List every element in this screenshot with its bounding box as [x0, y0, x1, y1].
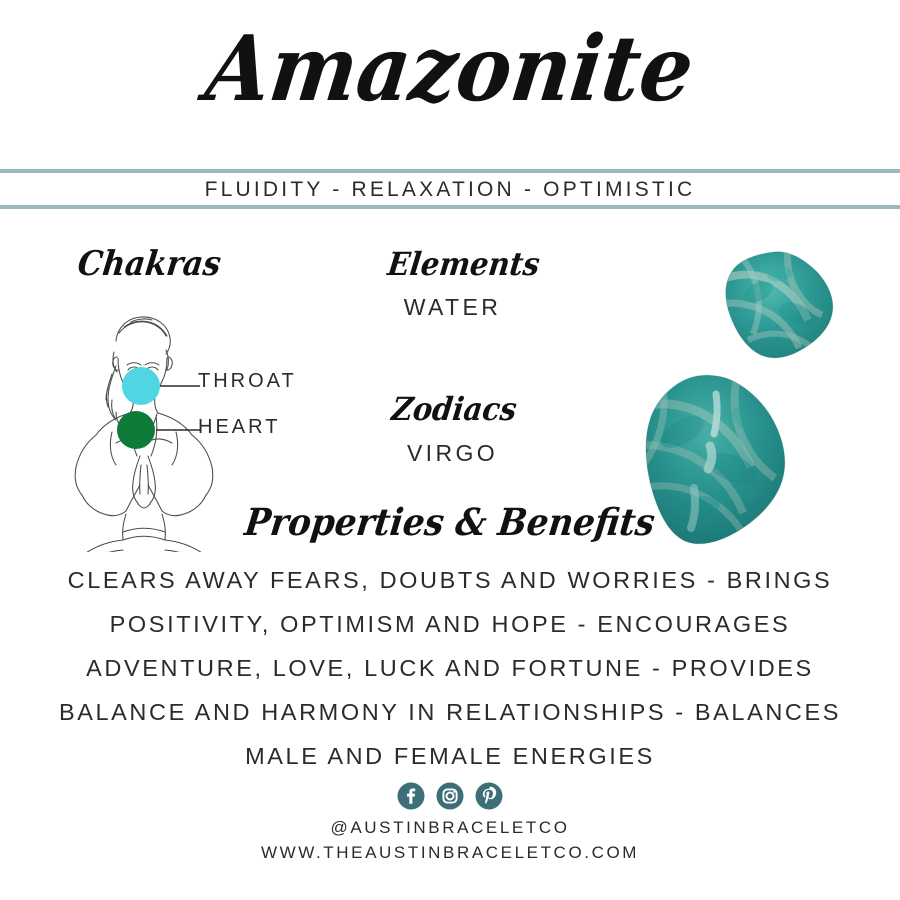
website-url[interactable]: WWW.THEAUSTINBRACELETCO.COM — [0, 840, 900, 865]
chakra-label-list: THROAT HEART — [198, 370, 338, 460]
title-container: Amazonite — [0, 28, 900, 110]
properties-line: ADVENTURE, LOVE, LUCK AND FORTUNE - PROV… — [20, 646, 880, 690]
amazonite-stone-small — [718, 248, 836, 360]
properties-heading-container: Properties & Benefits — [0, 503, 900, 543]
chakras-heading: Chakras — [76, 244, 224, 284]
divider-top — [0, 169, 900, 173]
properties-body: CLEARS AWAY FEARS, DOUBTS AND WORRIES - … — [20, 558, 880, 778]
properties-line: MALE AND FEMALE ENERGIES — [20, 734, 880, 778]
chakra-label-throat: THROAT — [198, 370, 338, 414]
throat-chakra-dot — [122, 367, 160, 405]
properties-line: POSITIVITY, OPTIMISM AND HOPE - ENCOURAG… — [20, 602, 880, 646]
instagram-icon[interactable] — [436, 782, 464, 810]
chakra-label-heart: HEART — [198, 416, 338, 460]
footer: @AUSTINBRACELETCO WWW.THEAUSTINBRACELETC… — [0, 815, 900, 865]
crystal-info-card: Amazonite FLUIDITY - RELAXATION - OPTIMI… — [0, 0, 900, 900]
zodiacs-heading: Zodiacs — [390, 390, 519, 427]
properties-line: CLEARS AWAY FEARS, DOUBTS AND WORRIES - … — [20, 558, 880, 602]
pinterest-icon[interactable] — [475, 782, 503, 810]
subtitle-keywords: FLUIDITY - RELAXATION - OPTIMISTIC — [0, 178, 900, 202]
facebook-icon[interactable] — [397, 782, 425, 810]
heart-chakra-dot — [117, 411, 155, 449]
elements-value: WATER — [330, 294, 575, 321]
divider-bottom — [0, 205, 900, 209]
zodiacs-value: VIRGO — [330, 440, 575, 467]
page-title: Amazonite — [202, 24, 699, 114]
properties-line: BALANCE AND HARMONY IN RELATIONSHIPS - B… — [20, 690, 880, 734]
social-icon-row — [0, 782, 900, 810]
social-handle[interactable]: @AUSTINBRACELETCO — [0, 815, 900, 840]
properties-heading: Properties & Benefits — [243, 501, 658, 545]
elements-heading: Elements — [386, 245, 542, 282]
